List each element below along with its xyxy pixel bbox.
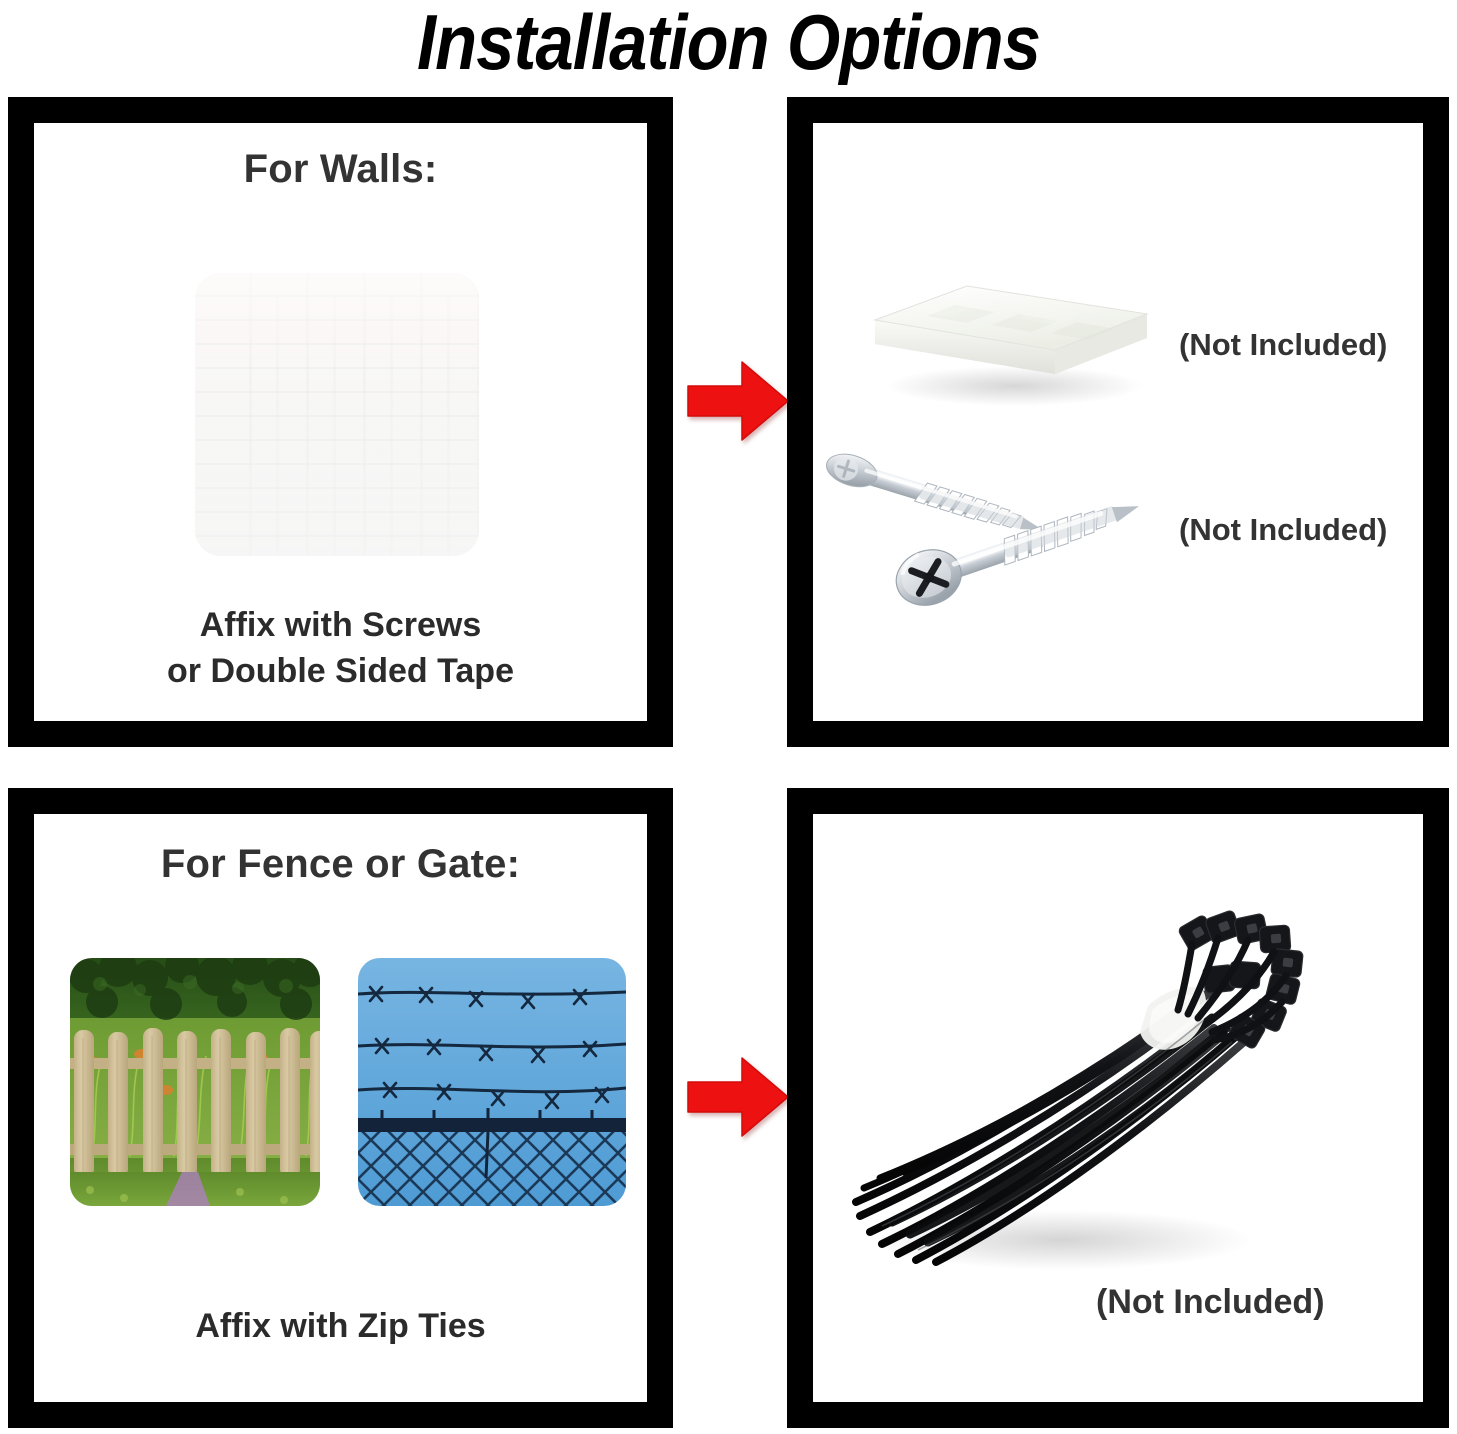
red-right-arrow-icon xyxy=(686,1054,790,1140)
white-brick-wall-photo xyxy=(195,273,479,556)
for-fence-heading: For Fence or Gate: xyxy=(34,842,647,887)
panel-hardware-content xyxy=(813,123,1423,721)
wooden-picket-fence-photo xyxy=(70,958,320,1206)
barbed-wire-chainlink-fence-photo xyxy=(358,958,626,1206)
double-sided-tape-stack-image xyxy=(855,224,1165,414)
phillips-wood-screws-image xyxy=(818,428,1168,616)
ziptie-not-included-label: (Not Included) xyxy=(1096,1283,1325,1322)
panel-for-walls: For Walls: Affix with Screws or Double S… xyxy=(8,97,673,747)
panel-hardware xyxy=(787,97,1449,747)
panel-for-walls-content: For Walls: Affix with Screws or Double S… xyxy=(34,123,647,721)
tape-not-included-label: (Not Included) xyxy=(1179,327,1387,363)
for-walls-heading: For Walls: xyxy=(34,147,647,192)
walls-caption: Affix with Screws or Double Sided Tape xyxy=(34,603,647,694)
black-zip-ties-bundle-image xyxy=(852,910,1312,1290)
red-right-arrow-icon xyxy=(686,358,790,444)
installation-options-infographic: Installation Options For Walls: Affix wi… xyxy=(0,0,1457,1434)
brick-white-paint-haze xyxy=(195,273,479,556)
page-title: Installation Options xyxy=(87,0,1369,88)
walls-caption-line-2: or Double Sided Tape xyxy=(34,649,647,695)
fence-caption: Affix with Zip Ties xyxy=(34,1304,647,1350)
screws-not-included-label: (Not Included) xyxy=(1179,512,1387,548)
walls-caption-line-1: Affix with Screws xyxy=(34,603,647,649)
